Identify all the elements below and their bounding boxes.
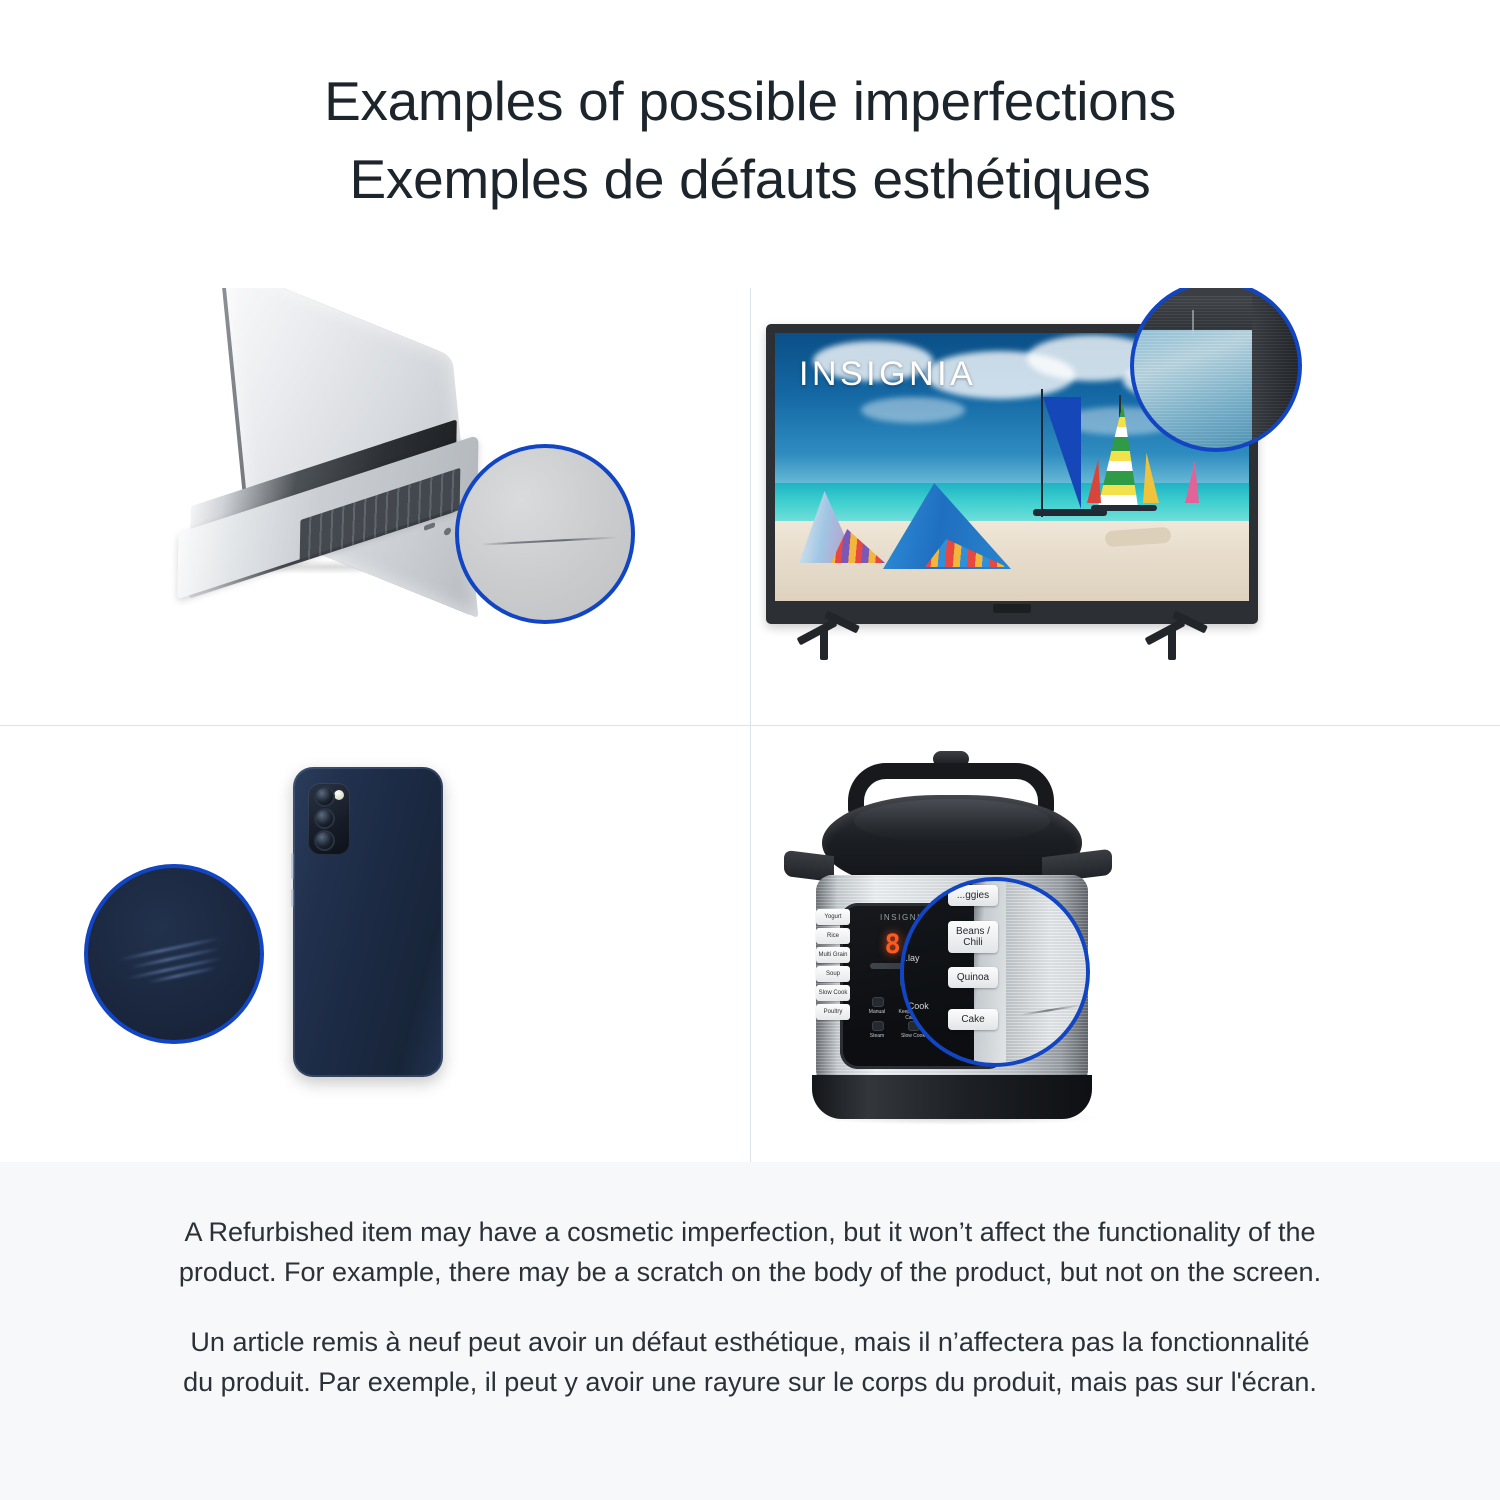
refurbished-imperfections-infographic: Examples of possible imperfections Exemp… [0, 0, 1500, 1500]
cooker-key[interactable] [872, 997, 884, 1007]
camera-flash-icon [334, 790, 344, 800]
cooker-key-label: Steam [862, 1033, 892, 1039]
phone-power-button [291, 889, 294, 907]
camera-lens-icon [316, 832, 333, 849]
disclaimer-french: Un article remis à neuf peut avoir un dé… [175, 1322, 1325, 1402]
scuff-stroke [147, 966, 216, 983]
page-title-french: Exemples de défauts esthétiques [0, 140, 1500, 218]
tv-scene-cloud [861, 397, 965, 423]
camera-lens-icon [316, 788, 333, 805]
scuff-mark-icon [117, 928, 239, 993]
product-example-grid: INSIGNIA [0, 288, 1500, 1162]
cooker-button[interactable]: Slow Cook [816, 985, 850, 1001]
phone-volume-button [291, 853, 294, 879]
cooker-button-column-left[interactable]: Yogurt Rice Multi Grain Soup Slow Cook P… [816, 909, 850, 1020]
tv-leg-post [820, 626, 828, 660]
pressure-cooker-photo: INSIGNIA 8:00 Manual Keep Wa [750, 725, 1500, 1162]
loupe-cooker-button-dim: ...w Cook [900, 1001, 932, 1011]
loupe-tv [1130, 288, 1302, 452]
cooker-key[interactable] [872, 1021, 884, 1031]
loupe-laptop [455, 444, 635, 624]
cooker-base [812, 1075, 1092, 1119]
loupe-cooker-button: Beans / Chili [948, 921, 998, 953]
tv-bottom-badge [993, 604, 1031, 613]
loupe-phone [84, 864, 264, 1044]
scratch-mark-icon [481, 536, 617, 545]
cooker-button[interactable]: Multi Grain [816, 947, 850, 963]
tv-brand-logo: INSIGNIA [799, 355, 976, 394]
example-cell-tv: INSIGNIA [750, 288, 1500, 725]
tv-leg-right [1142, 618, 1216, 662]
tv-scene-sail-blue [1043, 397, 1081, 509]
cooker-button[interactable]: Poultry [816, 1004, 850, 1020]
loupe-cooker-button: ...ggies [948, 885, 998, 906]
loupe-cooker-button: Cake [948, 1009, 998, 1030]
loupe-cooker-button: Quinoa [948, 967, 998, 988]
disclaimer-english: A Refurbished item may have a cosmetic i… [175, 1212, 1325, 1292]
laptop-photo [0, 288, 750, 725]
tv-scene-sea [775, 483, 1249, 526]
example-cell-phone [0, 725, 750, 1162]
cooker-key-label: Manual [862, 1009, 892, 1015]
cooker-lid-top [854, 799, 1050, 843]
tv-leg-left [794, 618, 868, 662]
cooker-button[interactable]: Soup [816, 966, 850, 982]
example-cell-laptop [0, 288, 750, 725]
loupe-pressure-cooker: ...ggies Beans / Chili Quinoa Cake ...la… [900, 877, 1090, 1067]
camera-lens-icon [316, 810, 333, 827]
page-title-english: Examples of possible imperfections [0, 62, 1500, 140]
loupe-cooker-button-dim: ...lay [900, 953, 932, 963]
scuff-mark-icon [1192, 310, 1194, 334]
footer-disclaimer: A Refurbished item may have a cosmetic i… [0, 1162, 1500, 1500]
phone-body [293, 767, 443, 1077]
tv-leg-post [1168, 626, 1176, 660]
tv-leg-arm [1145, 619, 1186, 646]
tv-leg-arm [797, 619, 838, 646]
page-title: Examples of possible imperfections Exemp… [0, 62, 1500, 218]
example-cell-pressure-cooker: INSIGNIA 8:00 Manual Keep Wa [750, 725, 1500, 1162]
phone-photo [0, 725, 750, 1162]
loupe-tv-texture [1130, 296, 1302, 452]
cooker-button[interactable]: Rice [816, 928, 850, 944]
cooker-button[interactable]: Yogurt [816, 909, 850, 925]
tv-scene-hull [1091, 505, 1157, 511]
tv-photo: INSIGNIA [750, 288, 1500, 725]
loupe-cooker-steel-surface [1006, 881, 1090, 1067]
phone-camera-module [308, 783, 350, 855]
